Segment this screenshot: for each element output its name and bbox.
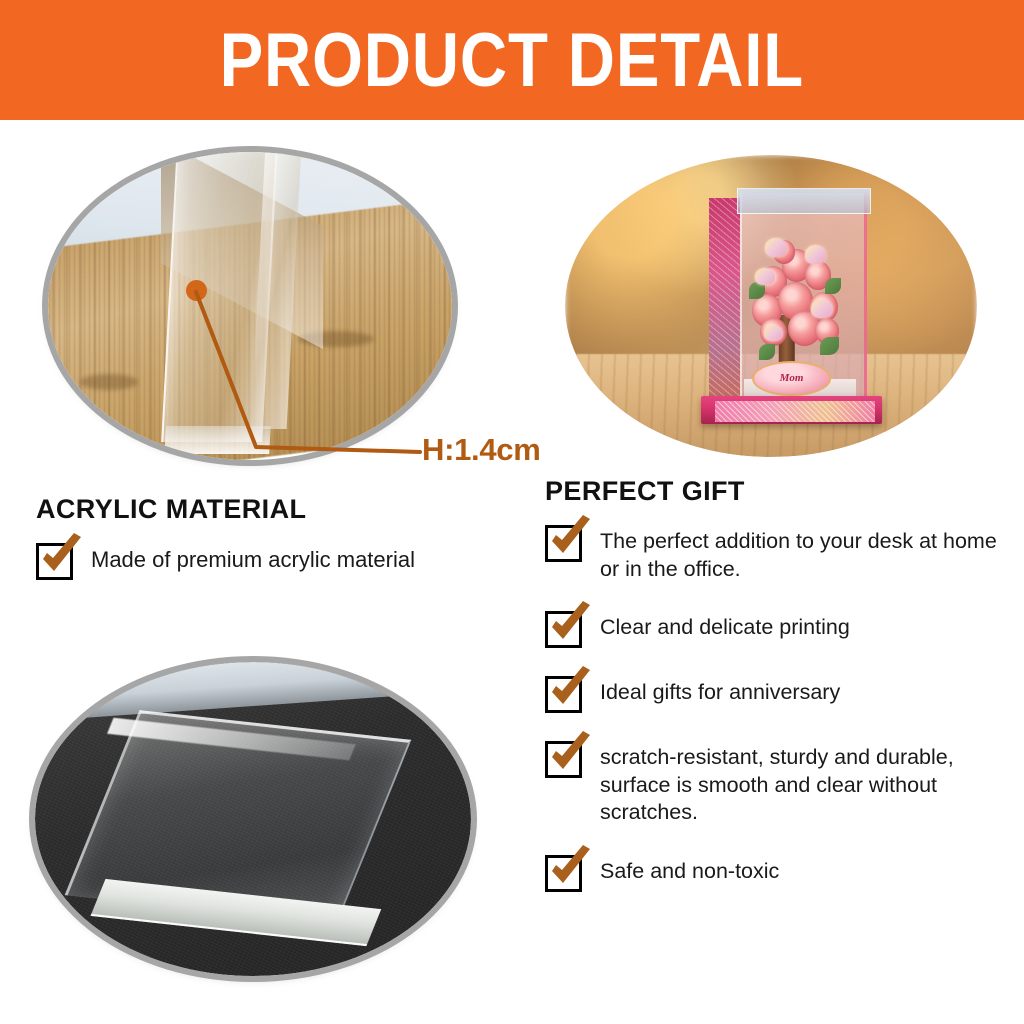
section-perfect-gift: PERFECT GIFT The perfect addition to you…: [545, 476, 1000, 918]
photo-acrylic-edge-on-wood: [48, 152, 452, 460]
wood-floor-scene: [48, 152, 452, 460]
list-item-label: scratch-resistant, sturdy and durable, s…: [600, 739, 1000, 827]
list-item: The perfect addition to your desk at hom…: [545, 523, 1000, 583]
photo-gift-display-box: Mom: [565, 155, 977, 457]
checkmark-icon: [545, 855, 582, 892]
pink-display-box: Mom: [709, 188, 874, 424]
butterfly-ornament: [805, 245, 826, 264]
section-acrylic-material: ACRYLIC MATERIAL Made of premium acrylic…: [36, 494, 536, 602]
section-title-perfect-gift: PERFECT GIFT: [545, 476, 1000, 507]
butterfly-ornament: [755, 268, 775, 284]
checkmark-icon: [545, 741, 582, 778]
feature-list-acrylic-material: Made of premium acrylic material: [36, 541, 536, 580]
mom-plaque-text: Mom: [780, 373, 804, 384]
photo-acrylic-slab-on-slate: [35, 662, 471, 976]
checkmark-icon: [36, 543, 73, 580]
list-item: scratch-resistant, sturdy and durable, s…: [545, 739, 1000, 827]
butterfly-ornament: [765, 238, 786, 257]
acrylic-block-base-highlight: [164, 426, 270, 454]
checkmark-icon: [545, 676, 582, 713]
checkmark-icon: [545, 525, 582, 562]
section-title-acrylic-material: ACRYLIC MATERIAL: [36, 494, 536, 525]
box-clear-lid: [737, 188, 871, 214]
mom-plaque: Mom: [752, 361, 832, 396]
box-side-panel: [709, 198, 740, 410]
header-banner: PRODUCT DETAIL: [0, 0, 1024, 120]
list-item-label: The perfect addition to your desk at hom…: [600, 523, 1000, 583]
wood-grain-knot: [80, 374, 138, 390]
dimension-height-label: H:1.4cm: [422, 432, 541, 468]
page-title: PRODUCT DETAIL: [220, 23, 805, 99]
feature-list-perfect-gift: The perfect addition to your desk at hom…: [545, 523, 1000, 892]
list-item: Safe and non-toxic: [545, 853, 1000, 892]
list-item-label: Safe and non-toxic: [600, 853, 779, 886]
butterfly-ornament: [811, 299, 832, 318]
list-item-label: Made of premium acrylic material: [91, 541, 415, 574]
list-item: Ideal gifts for anniversary: [545, 674, 1000, 713]
checkmark-icon: [545, 611, 582, 648]
box-base: [701, 396, 882, 424]
butterfly-ornament: [764, 325, 784, 341]
list-item-label: Clear and delicate printing: [600, 609, 850, 642]
dimension-marker-dot: [186, 280, 207, 301]
list-item-label: Ideal gifts for anniversary: [600, 674, 840, 707]
leaf: [749, 282, 765, 298]
list-item: Clear and delicate printing: [545, 609, 1000, 648]
product-detail-page: PRODUCT DETAIL H:1.4cm: [0, 0, 1024, 1024]
list-item: Made of premium acrylic material: [36, 541, 536, 580]
box-base-glitter: [715, 401, 875, 421]
